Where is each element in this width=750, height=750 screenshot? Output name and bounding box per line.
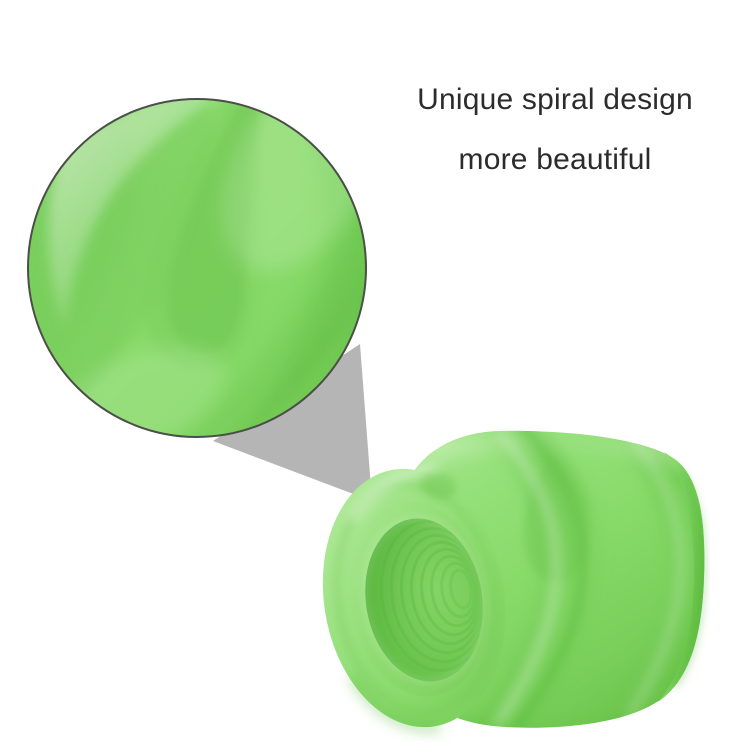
headline-line-1: Unique spiral design bbox=[370, 70, 740, 130]
headline-line-2: more beautiful bbox=[370, 130, 740, 190]
headline-block: Unique spiral design more beautiful bbox=[370, 70, 740, 190]
product-image-canvas: Unique spiral design more beautiful bbox=[0, 0, 750, 750]
